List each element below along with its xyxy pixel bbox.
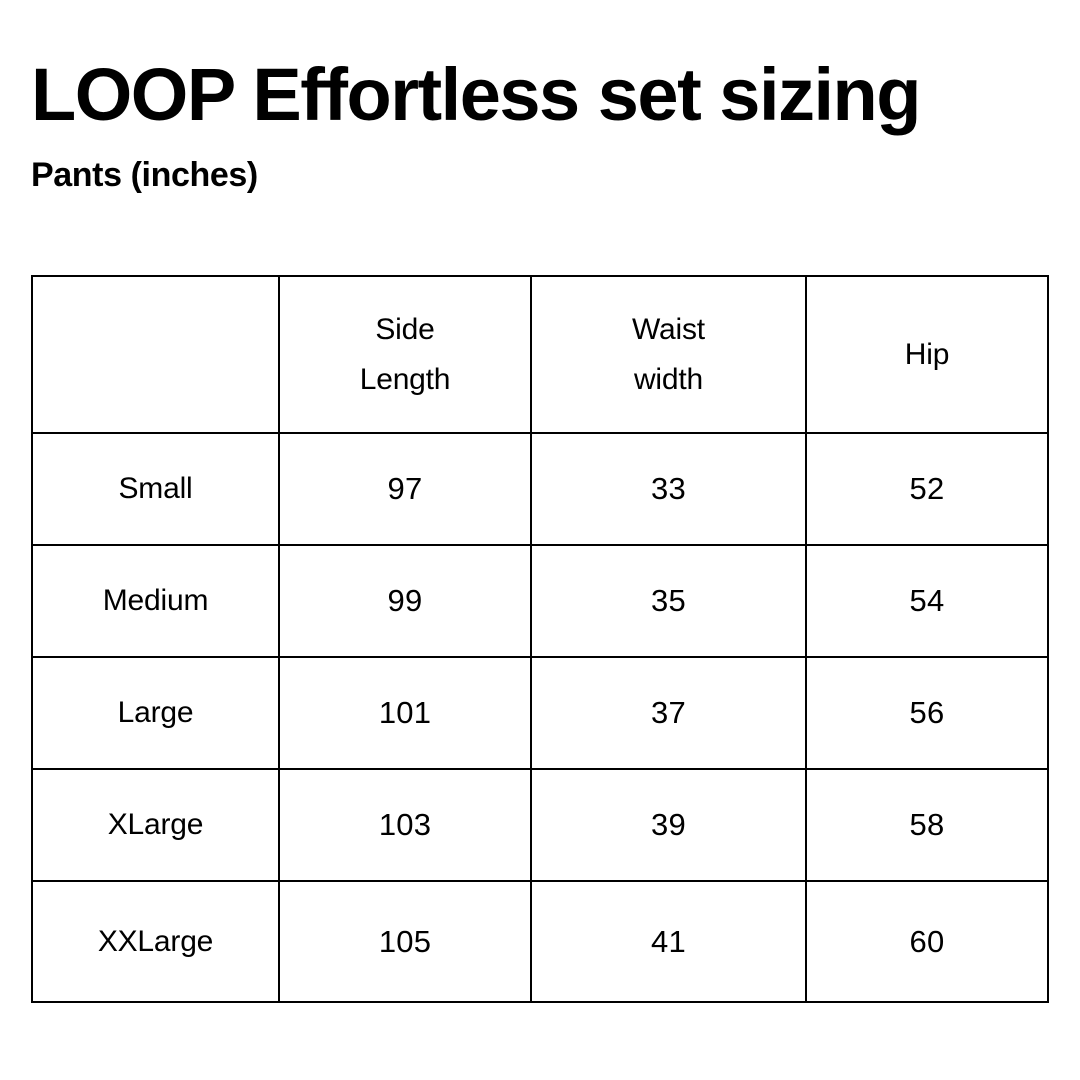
table-header-row: Side Length Waist width Hip [32, 276, 1048, 433]
column-header-side-length: Side Length [279, 276, 531, 433]
sizing-chart-page: LOOP Effortless set sizing Pants (inches… [0, 0, 1080, 1080]
cell-xxlarge-side: 105 [279, 881, 531, 1002]
table-corner-cell [32, 276, 279, 433]
cell-xlarge-side: 103 [279, 769, 531, 881]
column-header-waist-width: Waist width [531, 276, 806, 433]
cell-small-waist: 33 [531, 433, 806, 545]
table-header: Side Length Waist width Hip [32, 276, 1048, 433]
column-header-waist-width-line-2: width [532, 355, 805, 405]
row-label-xxlarge: XXLarge [32, 881, 279, 1002]
cell-xlarge-hip: 58 [806, 769, 1048, 881]
column-header-hip: Hip [806, 276, 1048, 433]
cell-large-waist: 37 [531, 657, 806, 769]
column-header-side-length-line-1: Side [280, 305, 530, 355]
cell-small-side: 97 [279, 433, 531, 545]
size-chart-table: Side Length Waist width Hip Small 97 [31, 275, 1049, 1003]
table-row: Medium 99 35 54 [32, 545, 1048, 657]
table-row: Large 101 37 56 [32, 657, 1048, 769]
cell-medium-side: 99 [279, 545, 531, 657]
cell-xxlarge-hip: 60 [806, 881, 1048, 1002]
row-label-xlarge: XLarge [32, 769, 279, 881]
cell-small-hip: 52 [806, 433, 1048, 545]
row-label-small: Small [32, 433, 279, 545]
column-header-hip-line-1: Hip [807, 330, 1047, 380]
table-row: XLarge 103 39 58 [32, 769, 1048, 881]
table-body: Small 97 33 52 Medium 99 35 54 Large 101… [32, 433, 1048, 1002]
cell-large-hip: 56 [806, 657, 1048, 769]
cell-medium-waist: 35 [531, 545, 806, 657]
size-table-container: Side Length Waist width Hip Small 97 [31, 275, 1047, 1003]
cell-medium-hip: 54 [806, 545, 1048, 657]
column-header-waist-width-line-1: Waist [532, 305, 805, 355]
table-row: Small 97 33 52 [32, 433, 1048, 545]
row-label-large: Large [32, 657, 279, 769]
column-header-side-length-line-2: Length [280, 355, 530, 405]
table-row: XXLarge 105 41 60 [32, 881, 1048, 1002]
row-label-medium: Medium [32, 545, 279, 657]
cell-large-side: 101 [279, 657, 531, 769]
page-title: LOOP Effortless set sizing [31, 58, 1051, 132]
cell-xlarge-waist: 39 [531, 769, 806, 881]
heading-block: LOOP Effortless set sizing Pants (inches… [31, 58, 1051, 192]
page-subtitle: Pants (inches) [31, 132, 1051, 192]
cell-xxlarge-waist: 41 [531, 881, 806, 1002]
